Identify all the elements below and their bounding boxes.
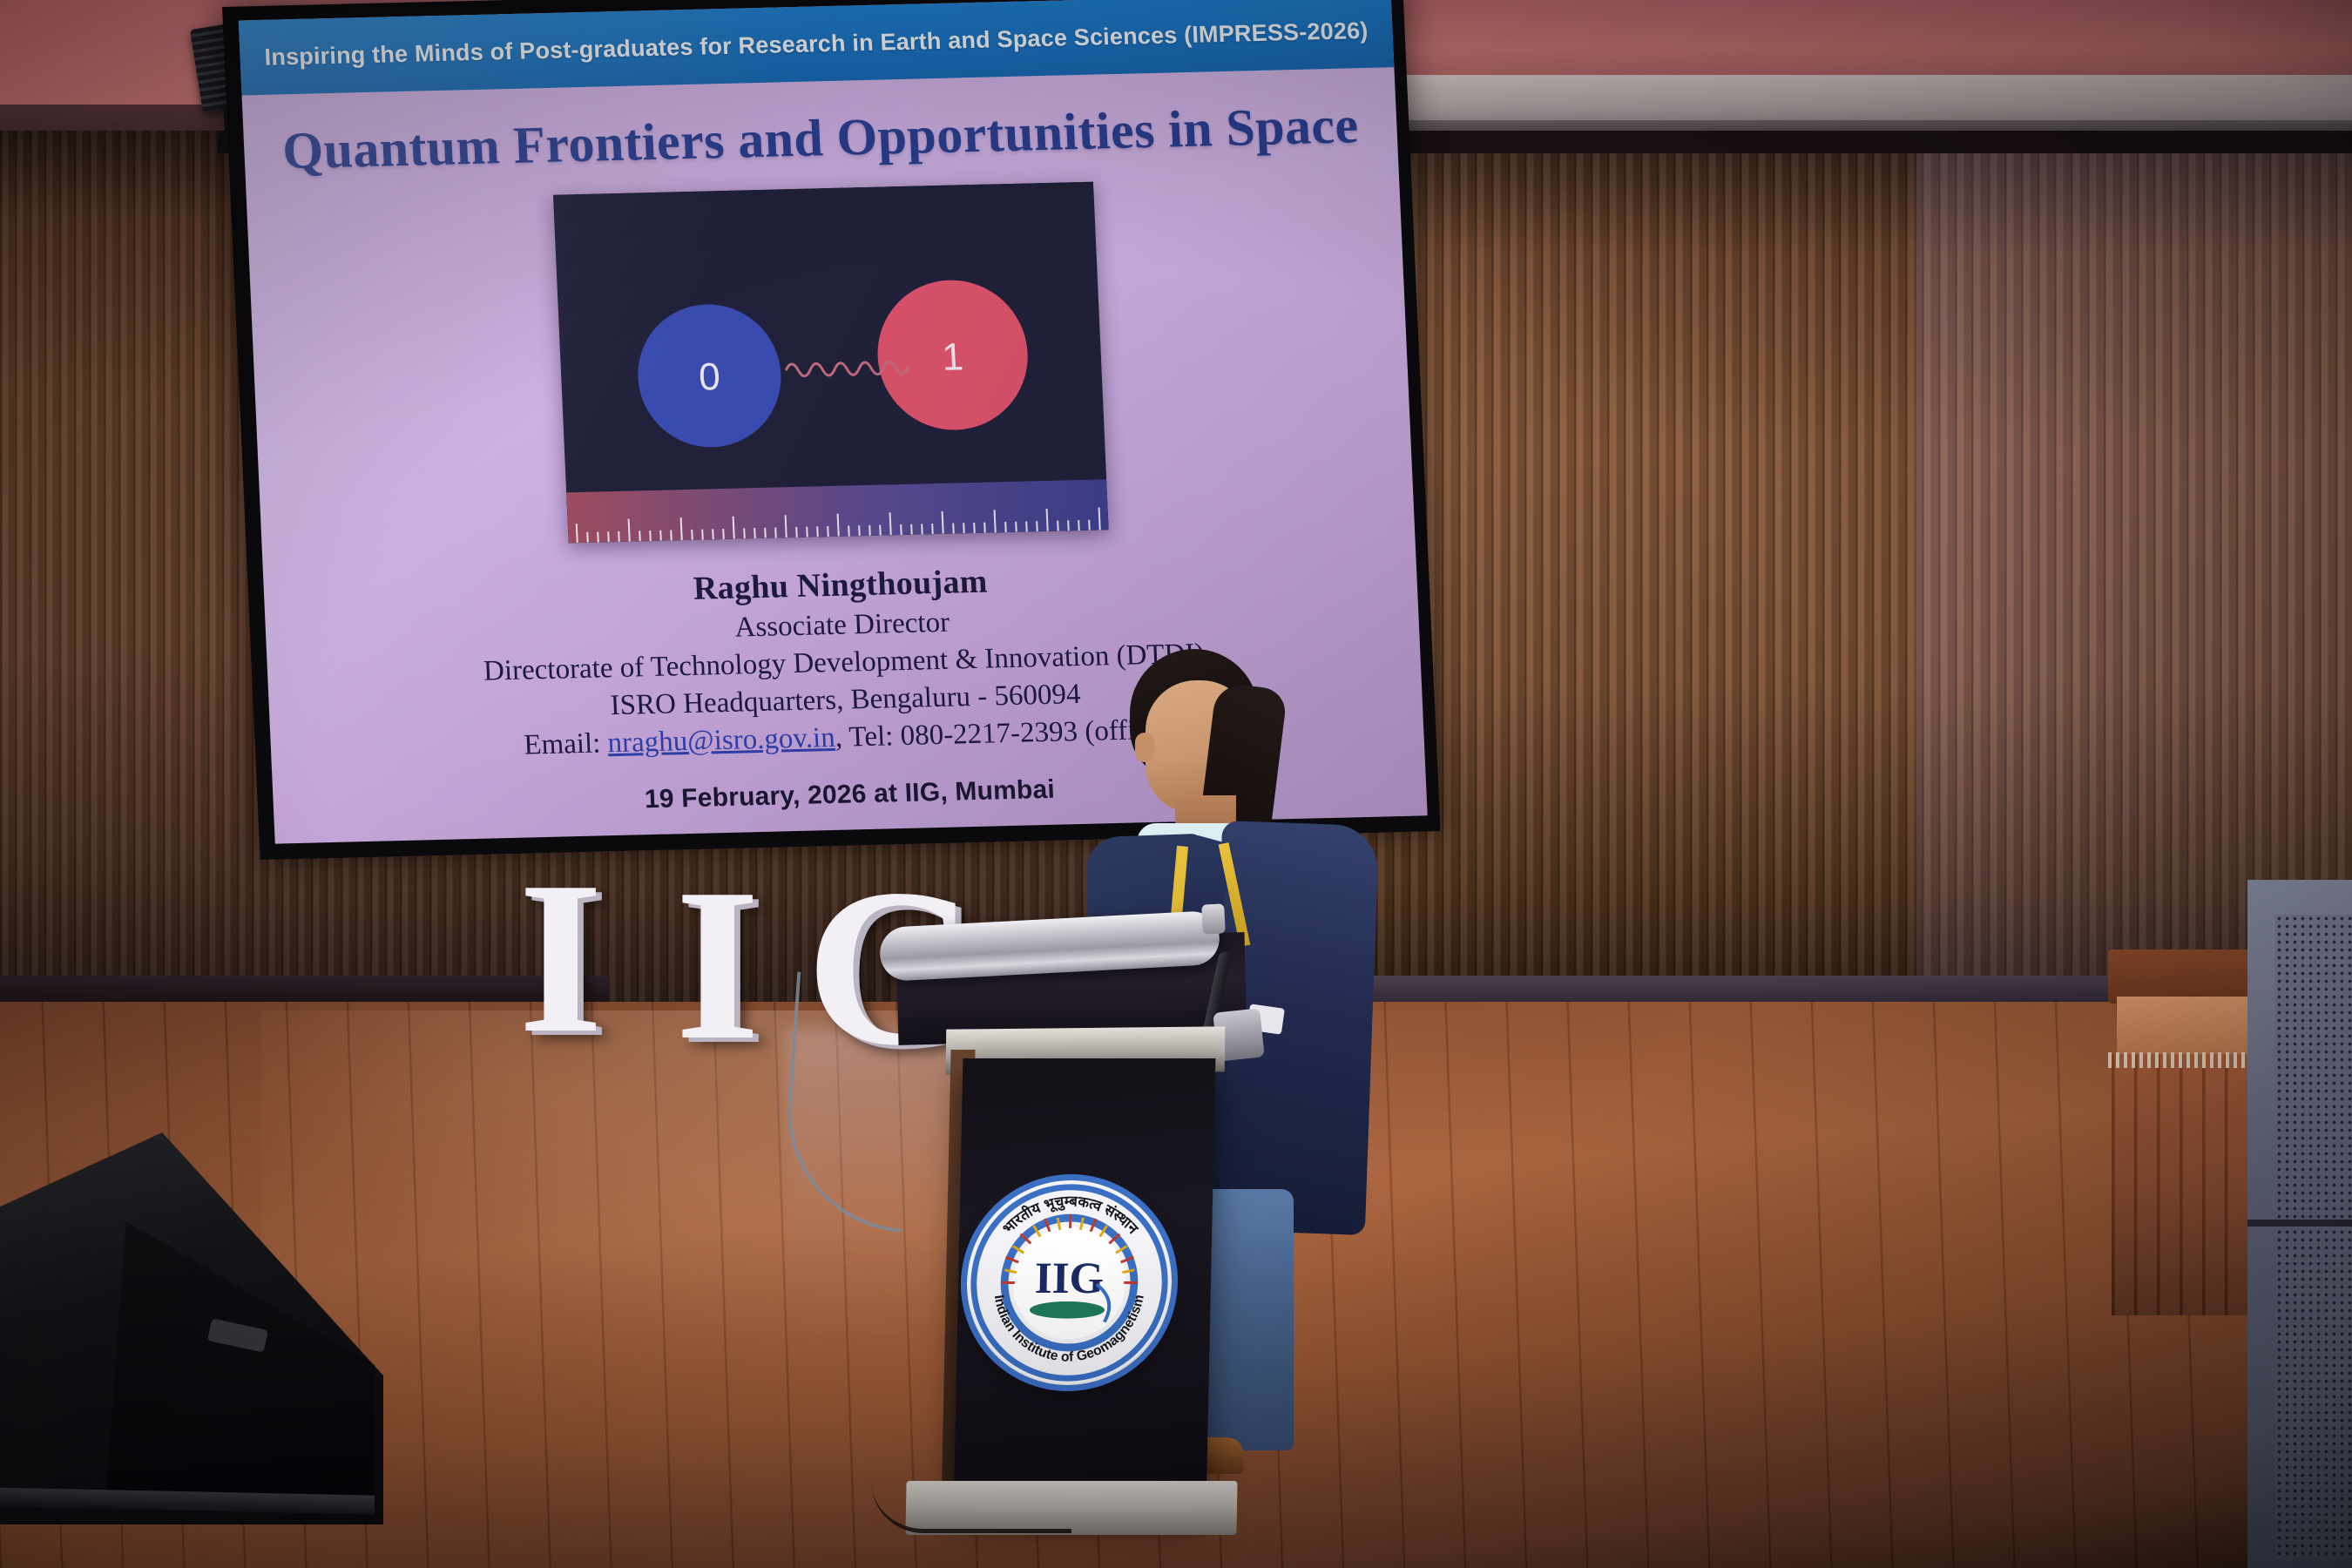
pa-speaker-seam [2247,1220,2352,1227]
qubit-figure: 0 1 [552,182,1108,544]
slide-title: Quantum Frontiers and Opportunities in S… [243,97,1398,179]
conference-hall-scene: Inspiring the Minds of Post-graduates fo… [0,0,2352,1568]
contact-prefix: Email: [524,727,609,760]
podium-light-knob [1201,903,1226,934]
emblem-leaf [1030,1301,1105,1319]
slide-banner: Inspiring the Minds of Post-graduates fo… [239,0,1395,95]
qubit-label-one: 1 [941,335,964,379]
wood-panel-wall-right [1359,131,2352,1019]
qubit-label-zero: 0 [698,355,721,399]
presenter-ear [1135,733,1154,762]
slide-banner-text: Inspiring the Minds of Post-graduates fo… [264,17,1369,71]
speaker-email-link[interactable]: nraghu@isro.gov.in [607,722,836,759]
stage-letter-i-second: I [675,856,760,1074]
floor-cable [871,1481,1071,1533]
ceiling-band [1359,75,2352,127]
qubit-diagram-svg: 0 1 [552,182,1108,544]
pa-speaker-grill [2275,915,2352,1559]
stage-letter-i-first: I [518,849,603,1067]
emblem-acronym: IIG [1034,1254,1104,1303]
